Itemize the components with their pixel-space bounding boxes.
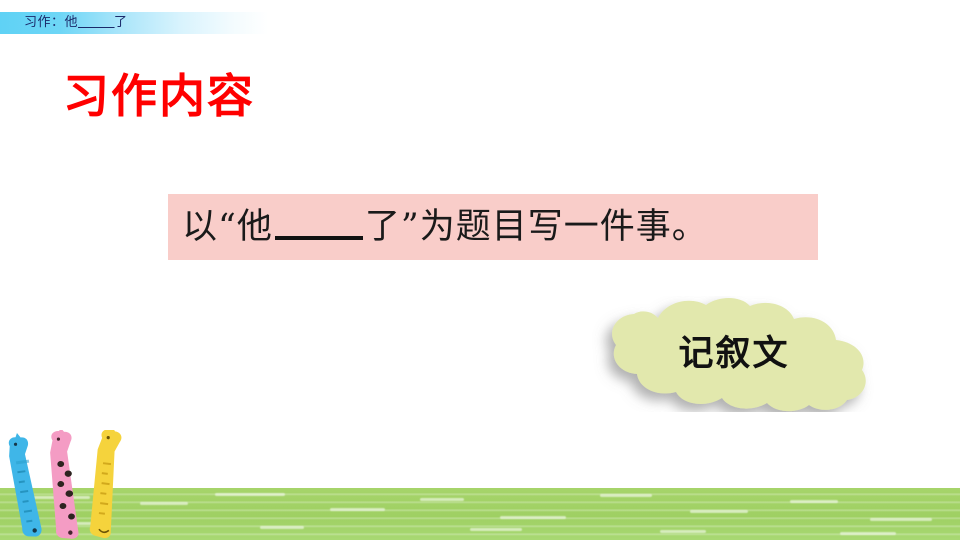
prompt-text-before-blank: 以“他 — [182, 207, 273, 247]
header-label-suffix: 了 — [114, 15, 128, 30]
prompt-fill-in-blank — [275, 236, 363, 240]
presentation-slide: 习作：他＿＿＿了 习作内容 以“他了”为题目写一件事。 记叙文 — [0, 0, 960, 540]
giraffe-ruler-decorations — [0, 430, 130, 540]
giraffe-ruler-pink-icon — [49, 430, 79, 540]
header-label-blank: ＿＿＿ — [78, 15, 114, 30]
header-label-prefix: 习作：他 — [24, 15, 78, 30]
prompt-text-after-blank: 了”为题目写一件事。 — [365, 207, 708, 247]
page-title: 习作内容 — [63, 68, 255, 124]
cloud-label: 记叙文 — [566, 296, 876, 412]
prompt-text: 以“他了”为题目写一件事。 — [168, 203, 708, 251]
prompt-banner: 以“他了”为题目写一件事。 — [168, 194, 818, 260]
giraffe-ruler-yellow-icon — [87, 430, 124, 539]
grass-strip — [0, 488, 960, 540]
header-lesson-label: 习作：他＿＿＿了 — [24, 13, 128, 33]
cloud-callout: 记叙文 — [566, 296, 876, 412]
giraffe-ruler-blue-icon — [6, 431, 42, 538]
